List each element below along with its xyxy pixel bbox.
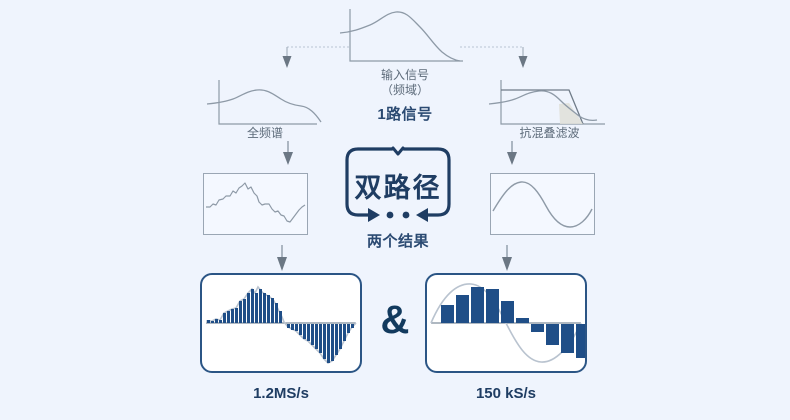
dense-sampled-bars-icon [202,275,360,371]
arrow-left-waveform-to-panel [275,245,289,273]
arrow-right-waveform-to-panel [500,245,514,273]
noisy-time-waveform-icon [204,174,307,234]
input-signal-label-line2: （频域） [330,83,480,98]
left-sample-rate-label: 1.2MS/s [200,385,362,402]
right-sample-rate-label: 150 kS/s [425,385,587,402]
left-waveform-box [203,173,308,235]
combiner-ampersand: & [375,300,415,340]
coarse-sampled-bars-icon [427,275,585,371]
right-sampling-panel [425,273,587,373]
input-signal-count-label: 1路信号 [330,103,480,124]
two-results-caption: 两个结果 [340,230,456,251]
left-sampling-panel [200,273,362,373]
right-waveform-box [490,173,595,235]
top-split-connector [280,40,530,72]
anti-alias-filter-curve-icon [487,78,612,130]
arrow-left-spectrum-to-waveform [281,141,295,167]
diagram-canvas: 输入信号 （频域） 1路信号 全频谱 [0,0,790,420]
full-spectrum-curve-icon [205,78,325,130]
anti-alias-filter-label: 抗混叠滤波 [487,126,612,141]
arrow-right-filter-to-waveform [505,141,519,167]
full-spectrum-label: 全频谱 [205,126,325,141]
dual-path-title: 双路径 [344,166,452,205]
smooth-sine-waveform-icon [491,174,594,234]
